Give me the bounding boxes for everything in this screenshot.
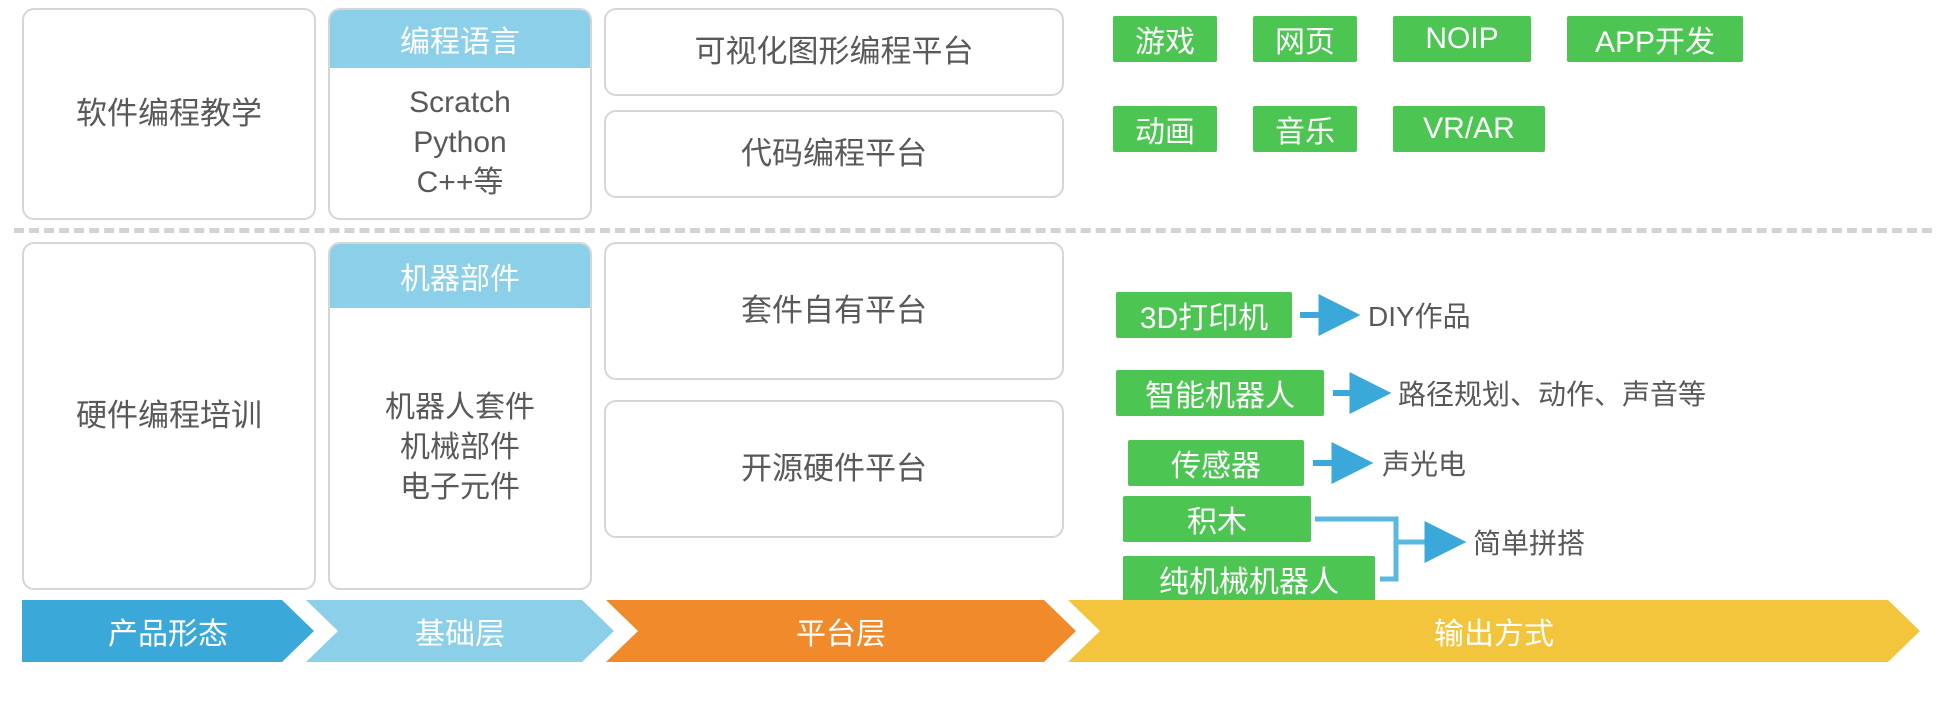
output-tag-3d-printer: 3D打印机 [1116,292,1292,338]
base-card-machine-parts: 机器部件 机器人套件 机械部件 电子元件 [328,242,592,590]
ribbon-product-form-label: 产品形态 [108,609,228,653]
product-card-software: 软件编程教学 [22,8,316,220]
output-tag-noip: NOIP [1393,16,1531,62]
platform-card-visual-programming: 可视化图形编程平台 [604,8,1064,96]
output-tag-pure-mechanical-robot: 纯机械机器人 [1123,556,1375,602]
output-tag-app-dev: APP开发 [1567,16,1743,62]
output-note-sound-light-electricity: 声光电 [1382,446,1466,480]
output-tag-sensor: 传感器 [1128,440,1304,486]
output-note-simple-assembly: 简单拼搭 [1473,525,1585,559]
product-card-hardware-label: 硬件编程培训 [76,397,262,436]
ribbon-base-layer[interactable]: 基础层 [306,600,614,662]
ribbon-product-form[interactable]: 产品形态 [22,600,314,662]
output-tag-vr-ar: VR/AR [1393,106,1545,152]
ribbon-output-mode-label: 输出方式 [1434,609,1554,653]
output-tag-building-blocks: 积木 [1123,496,1311,542]
arrow-pure-mech-branch [1380,542,1396,579]
output-tag-music: 音乐 [1253,106,1357,152]
base-card-programming-language-header: 编程语言 [330,10,590,68]
platform-card-open-source-hardware-label: 开源硬件平台 [741,450,927,489]
output-note-path-planning: 路径规划、动作、声音等 [1398,376,1706,410]
product-card-software-label: 软件编程教学 [76,95,262,134]
arrow-blocks-branch [1315,519,1456,542]
ribbon-output-mode[interactable]: 输出方式 [1068,600,1920,662]
ribbon-platform-layer-label: 平台层 [796,609,886,653]
output-note-diy-works: DIY作品 [1368,298,1471,332]
output-tag-web: 网页 [1253,16,1357,62]
ribbon-base-layer-label: 基础层 [415,609,505,653]
output-tag-game: 游戏 [1113,16,1217,62]
platform-card-kit-own: 套件自有平台 [604,242,1064,380]
diagram-canvas: 软件编程教学 编程语言 Scratch Python C++等 可视化图形编程平… [0,0,1946,710]
base-card-machine-parts-body: 机器人套件 机械部件 电子元件 [330,308,590,588]
platform-card-open-source-hardware: 开源硬件平台 [604,400,1064,538]
base-card-programming-language: 编程语言 Scratch Python C++等 [328,8,592,220]
platform-card-visual-programming-label: 可视化图形编程平台 [695,33,974,72]
output-tag-smart-robot: 智能机器人 [1116,370,1324,416]
platform-card-code-programming-label: 代码编程平台 [741,135,927,174]
platform-card-code-programming: 代码编程平台 [604,110,1064,198]
product-card-hardware: 硬件编程培训 [22,242,316,590]
base-card-programming-language-body: Scratch Python C++等 [330,68,590,218]
platform-card-kit-own-label: 套件自有平台 [741,292,927,331]
ribbon-platform-layer[interactable]: 平台层 [606,600,1076,662]
section-divider [14,228,1932,233]
output-tag-animation: 动画 [1113,106,1217,152]
base-card-machine-parts-header: 机器部件 [330,244,590,308]
